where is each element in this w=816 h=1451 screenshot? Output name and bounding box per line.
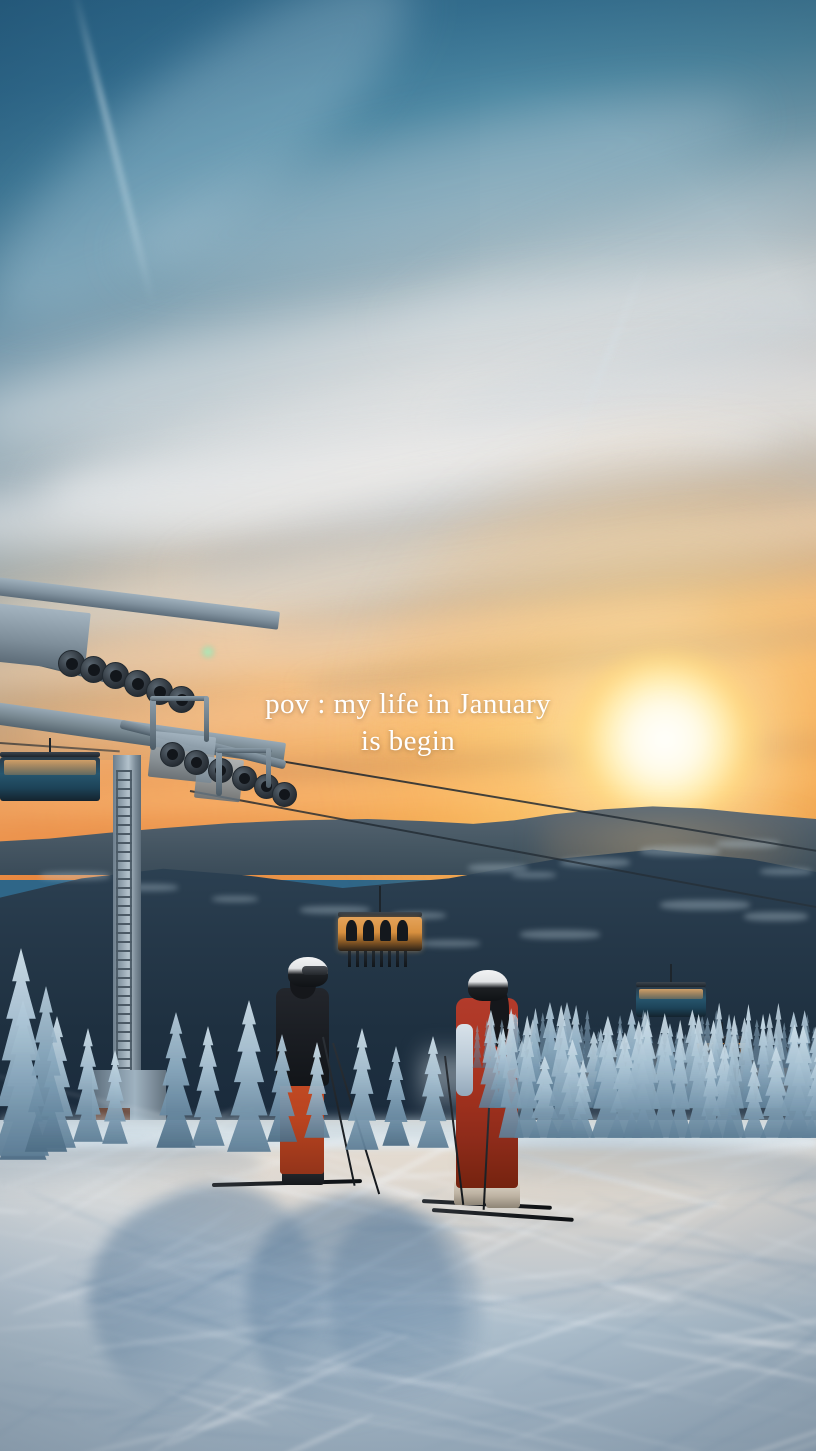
skier-right-ski-a xyxy=(432,1208,574,1222)
skier-right-panel-left xyxy=(456,1024,473,1096)
skier-left-goggles xyxy=(302,966,328,975)
photo-canvas: pov : my life in January is begin xyxy=(0,0,816,1451)
skier-right-helmet xyxy=(468,970,508,1001)
chairlift-chair-tower xyxy=(0,752,100,842)
green-lens-flare-icon xyxy=(200,645,216,659)
